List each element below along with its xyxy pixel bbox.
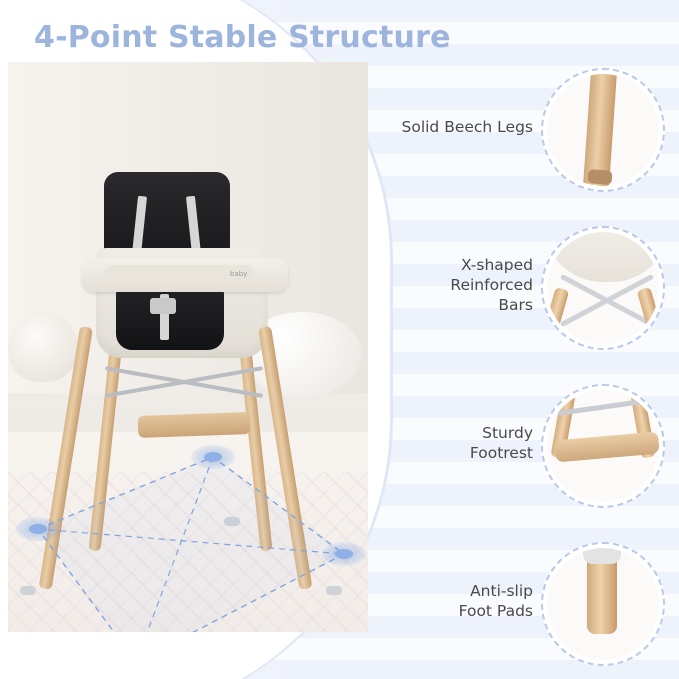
feature-item-x-shaped-reinforced-bars: X-shaped Reinforced Bars xyxy=(339,222,669,350)
x-brace-icon xyxy=(547,232,659,344)
feature-label: Anti-slip Foot Pads xyxy=(347,538,533,666)
feature-label: Solid Beech Legs xyxy=(347,64,533,192)
product-photo: baby xyxy=(8,62,368,632)
page-title: 4-Point Stable Structure xyxy=(34,20,451,55)
stability-point-1 xyxy=(16,517,60,541)
feature-circle xyxy=(541,384,665,508)
wooden-leg-icon xyxy=(547,74,659,186)
feature-item-anti-slip-foot-pads: Anti-slip Foot Pads xyxy=(339,538,669,666)
feature-item-solid-beech-legs: Solid Beech Legs xyxy=(339,64,669,192)
stability-point-2 xyxy=(191,445,235,469)
stability-diagram xyxy=(8,62,368,632)
feature-label: Sturdy Footrest xyxy=(347,380,533,508)
footrest-icon xyxy=(547,390,659,502)
feature-item-sturdy-footrest: Sturdy Footrest xyxy=(339,380,669,508)
foot-pad-icon xyxy=(547,548,659,660)
feature-label: X-shaped Reinforced Bars xyxy=(347,222,533,350)
feature-circle xyxy=(541,226,665,350)
feature-circle xyxy=(541,542,665,666)
feature-circle xyxy=(541,68,665,192)
infographic-page: 4-Point Stable Structure baby xyxy=(0,0,679,679)
